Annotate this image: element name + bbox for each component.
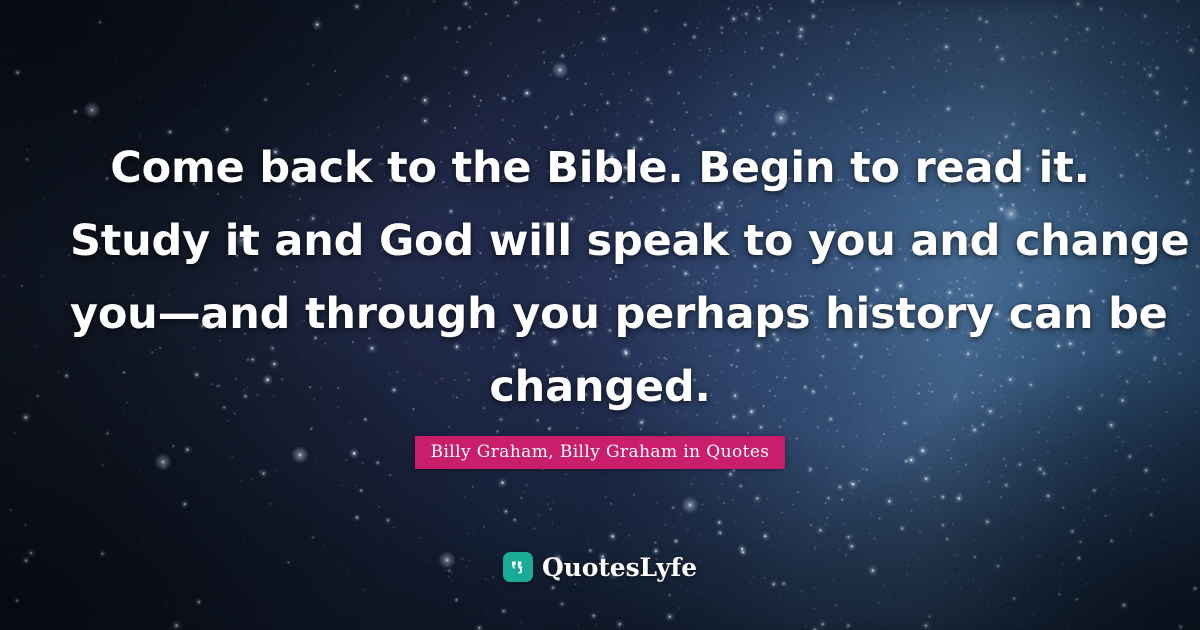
- quote-text: Come back to the Bible. Begin to read it…: [0, 132, 1200, 424]
- attribution-badge[interactable]: Billy Graham, Billy Graham in Quotes: [415, 436, 786, 469]
- quote-mark-icon: [503, 552, 533, 582]
- attribution-area: Billy Graham, Billy Graham in Quotes: [0, 436, 1200, 469]
- quote-line: Study it and God will speak to you and c…: [70, 205, 1130, 278]
- quote-line: you—and through you perhaps history can …: [70, 278, 1130, 351]
- brand-wordmark: QuotesLyfe: [542, 553, 697, 582]
- quote-line: changed.: [70, 351, 1130, 424]
- quote-card: Come back to the Bible. Begin to read it…: [0, 0, 1200, 630]
- quote-line: Come back to the Bible. Begin to read it…: [70, 132, 1130, 205]
- brand-logo[interactable]: QuotesLyfe: [0, 552, 1200, 582]
